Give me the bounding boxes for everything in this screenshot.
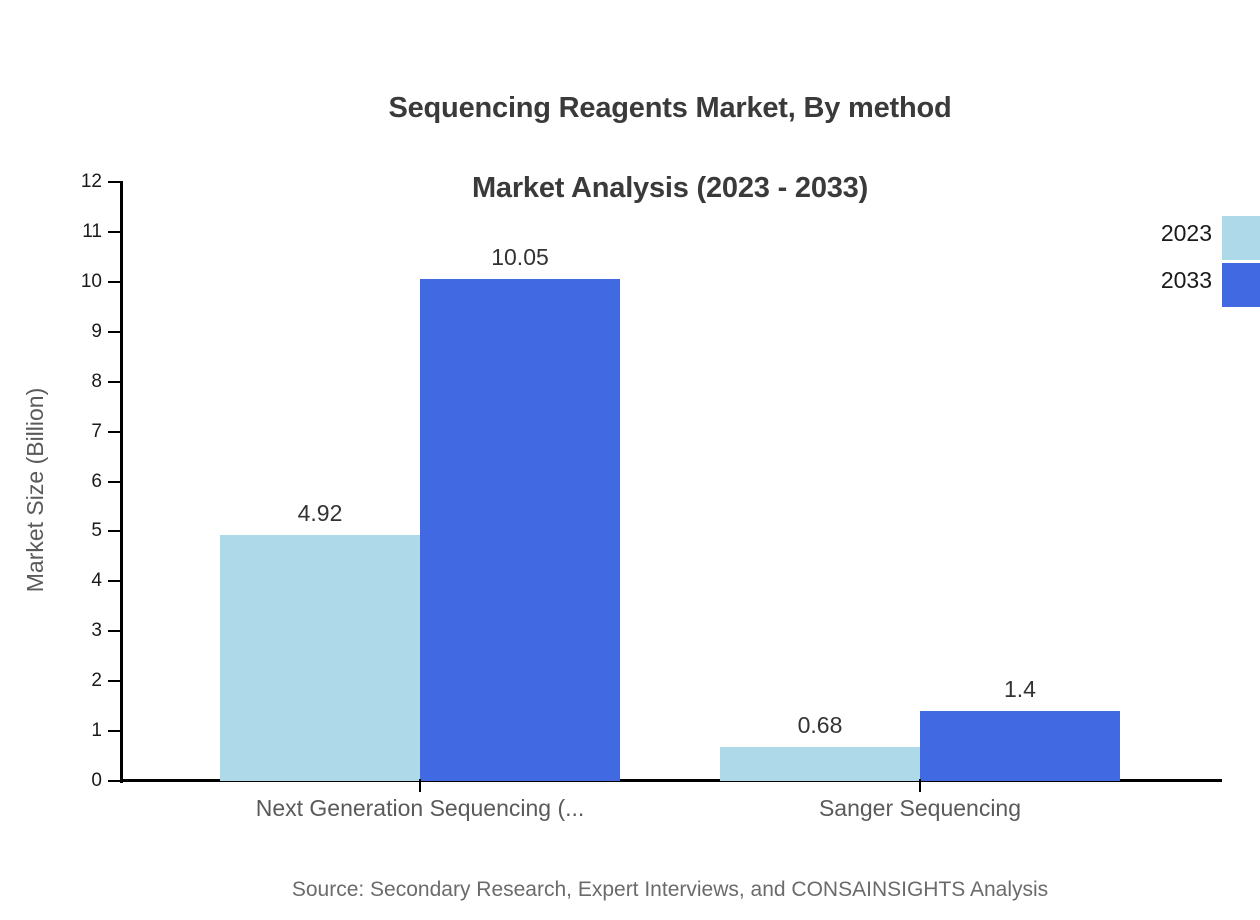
chart-title: Sequencing Reagents Market, By method Ma… — [0, 48, 1260, 248]
source-note: Source: Secondary Research, Expert Inter… — [0, 877, 1260, 903]
y-tick-mark — [108, 481, 122, 483]
y-tick-mark — [108, 580, 122, 582]
x-tick-label: Sanger Sequencing — [620, 793, 1220, 823]
bar-value-label: 4.92 — [220, 499, 420, 527]
bar-value-label: 0.68 — [720, 711, 920, 739]
y-tick-label: 12 — [20, 172, 102, 191]
legend-label-2033: 2033 — [1100, 268, 1212, 292]
legend-item-2033[interactable]: 2033 — [1100, 257, 1260, 303]
bar-2023-group-1[interactable] — [220, 535, 420, 781]
y-tick-mark — [108, 730, 122, 732]
y-tick-label: 0 — [20, 771, 102, 790]
legend-swatch-2033 — [1222, 263, 1260, 307]
y-tick-mark — [108, 381, 122, 383]
y-tick-label-text: 0 — [32, 771, 102, 790]
y-tick-label-text: 7 — [32, 422, 102, 441]
y-tick-label-text: 1 — [32, 721, 102, 740]
bar-2023-group-2[interactable] — [720, 747, 920, 781]
y-tick-label: 10 — [20, 272, 102, 291]
y-tick-label: 3 — [20, 621, 102, 640]
y-tick-label-text: 4 — [32, 571, 102, 590]
y-tick-mark — [108, 431, 122, 433]
chart-figure: Sequencing Reagents Market, By method Ma… — [0, 0, 1260, 920]
chart-legend: 2023 2033 — [1100, 210, 1260, 320]
x-tick-mark — [419, 779, 421, 792]
y-tick-label-text: 8 — [32, 372, 102, 391]
y-tick-label-text: 10 — [32, 272, 102, 291]
y-tick-mark — [108, 680, 122, 682]
y-tick-label: 1 — [20, 721, 102, 740]
y-tick-label-text: 9 — [32, 322, 102, 341]
bar-value-label: 10.05 — [420, 243, 620, 271]
y-tick-label-text: 5 — [32, 521, 102, 540]
y-tick-label: 5 — [20, 521, 102, 540]
y-tick-label: 4 — [20, 571, 102, 590]
legend-swatch-2023 — [1222, 216, 1260, 260]
y-tick-label-text: 11 — [32, 222, 102, 241]
bar-2033-group-2[interactable] — [920, 711, 1120, 781]
legend-item-2023[interactable]: 2023 — [1100, 210, 1260, 256]
y-tick-mark — [108, 281, 122, 283]
y-tick-label: 8 — [20, 372, 102, 391]
legend-label-2023: 2023 — [1100, 221, 1212, 245]
y-tick-label-text: 12 — [32, 172, 102, 191]
y-tick-label: 11 — [20, 222, 102, 241]
y-tick-mark — [108, 780, 122, 782]
y-tick-label-text: 2 — [32, 671, 102, 690]
y-tick-mark — [108, 331, 122, 333]
y-tick-label: 7 — [20, 422, 102, 441]
y-tick-label: 9 — [20, 322, 102, 341]
bar-value-label: 1.4 — [920, 675, 1120, 703]
y-tick-label-text: 3 — [32, 621, 102, 640]
y-tick-mark — [108, 630, 122, 632]
y-tick-mark — [108, 181, 122, 183]
chart-title-line-1: Sequencing Reagents Market, By method — [0, 88, 1260, 128]
y-tick-mark — [108, 530, 122, 532]
chart-title-line-2: Market Analysis (2023 - 2033) — [0, 168, 1260, 208]
y-tick-label: 6 — [20, 472, 102, 491]
y-tick-mark — [108, 231, 122, 233]
bar-2033-group-1[interactable] — [420, 279, 620, 781]
y-tick-label: 2 — [20, 671, 102, 690]
x-tick-mark — [919, 779, 921, 792]
y-tick-label-text: 6 — [32, 472, 102, 491]
